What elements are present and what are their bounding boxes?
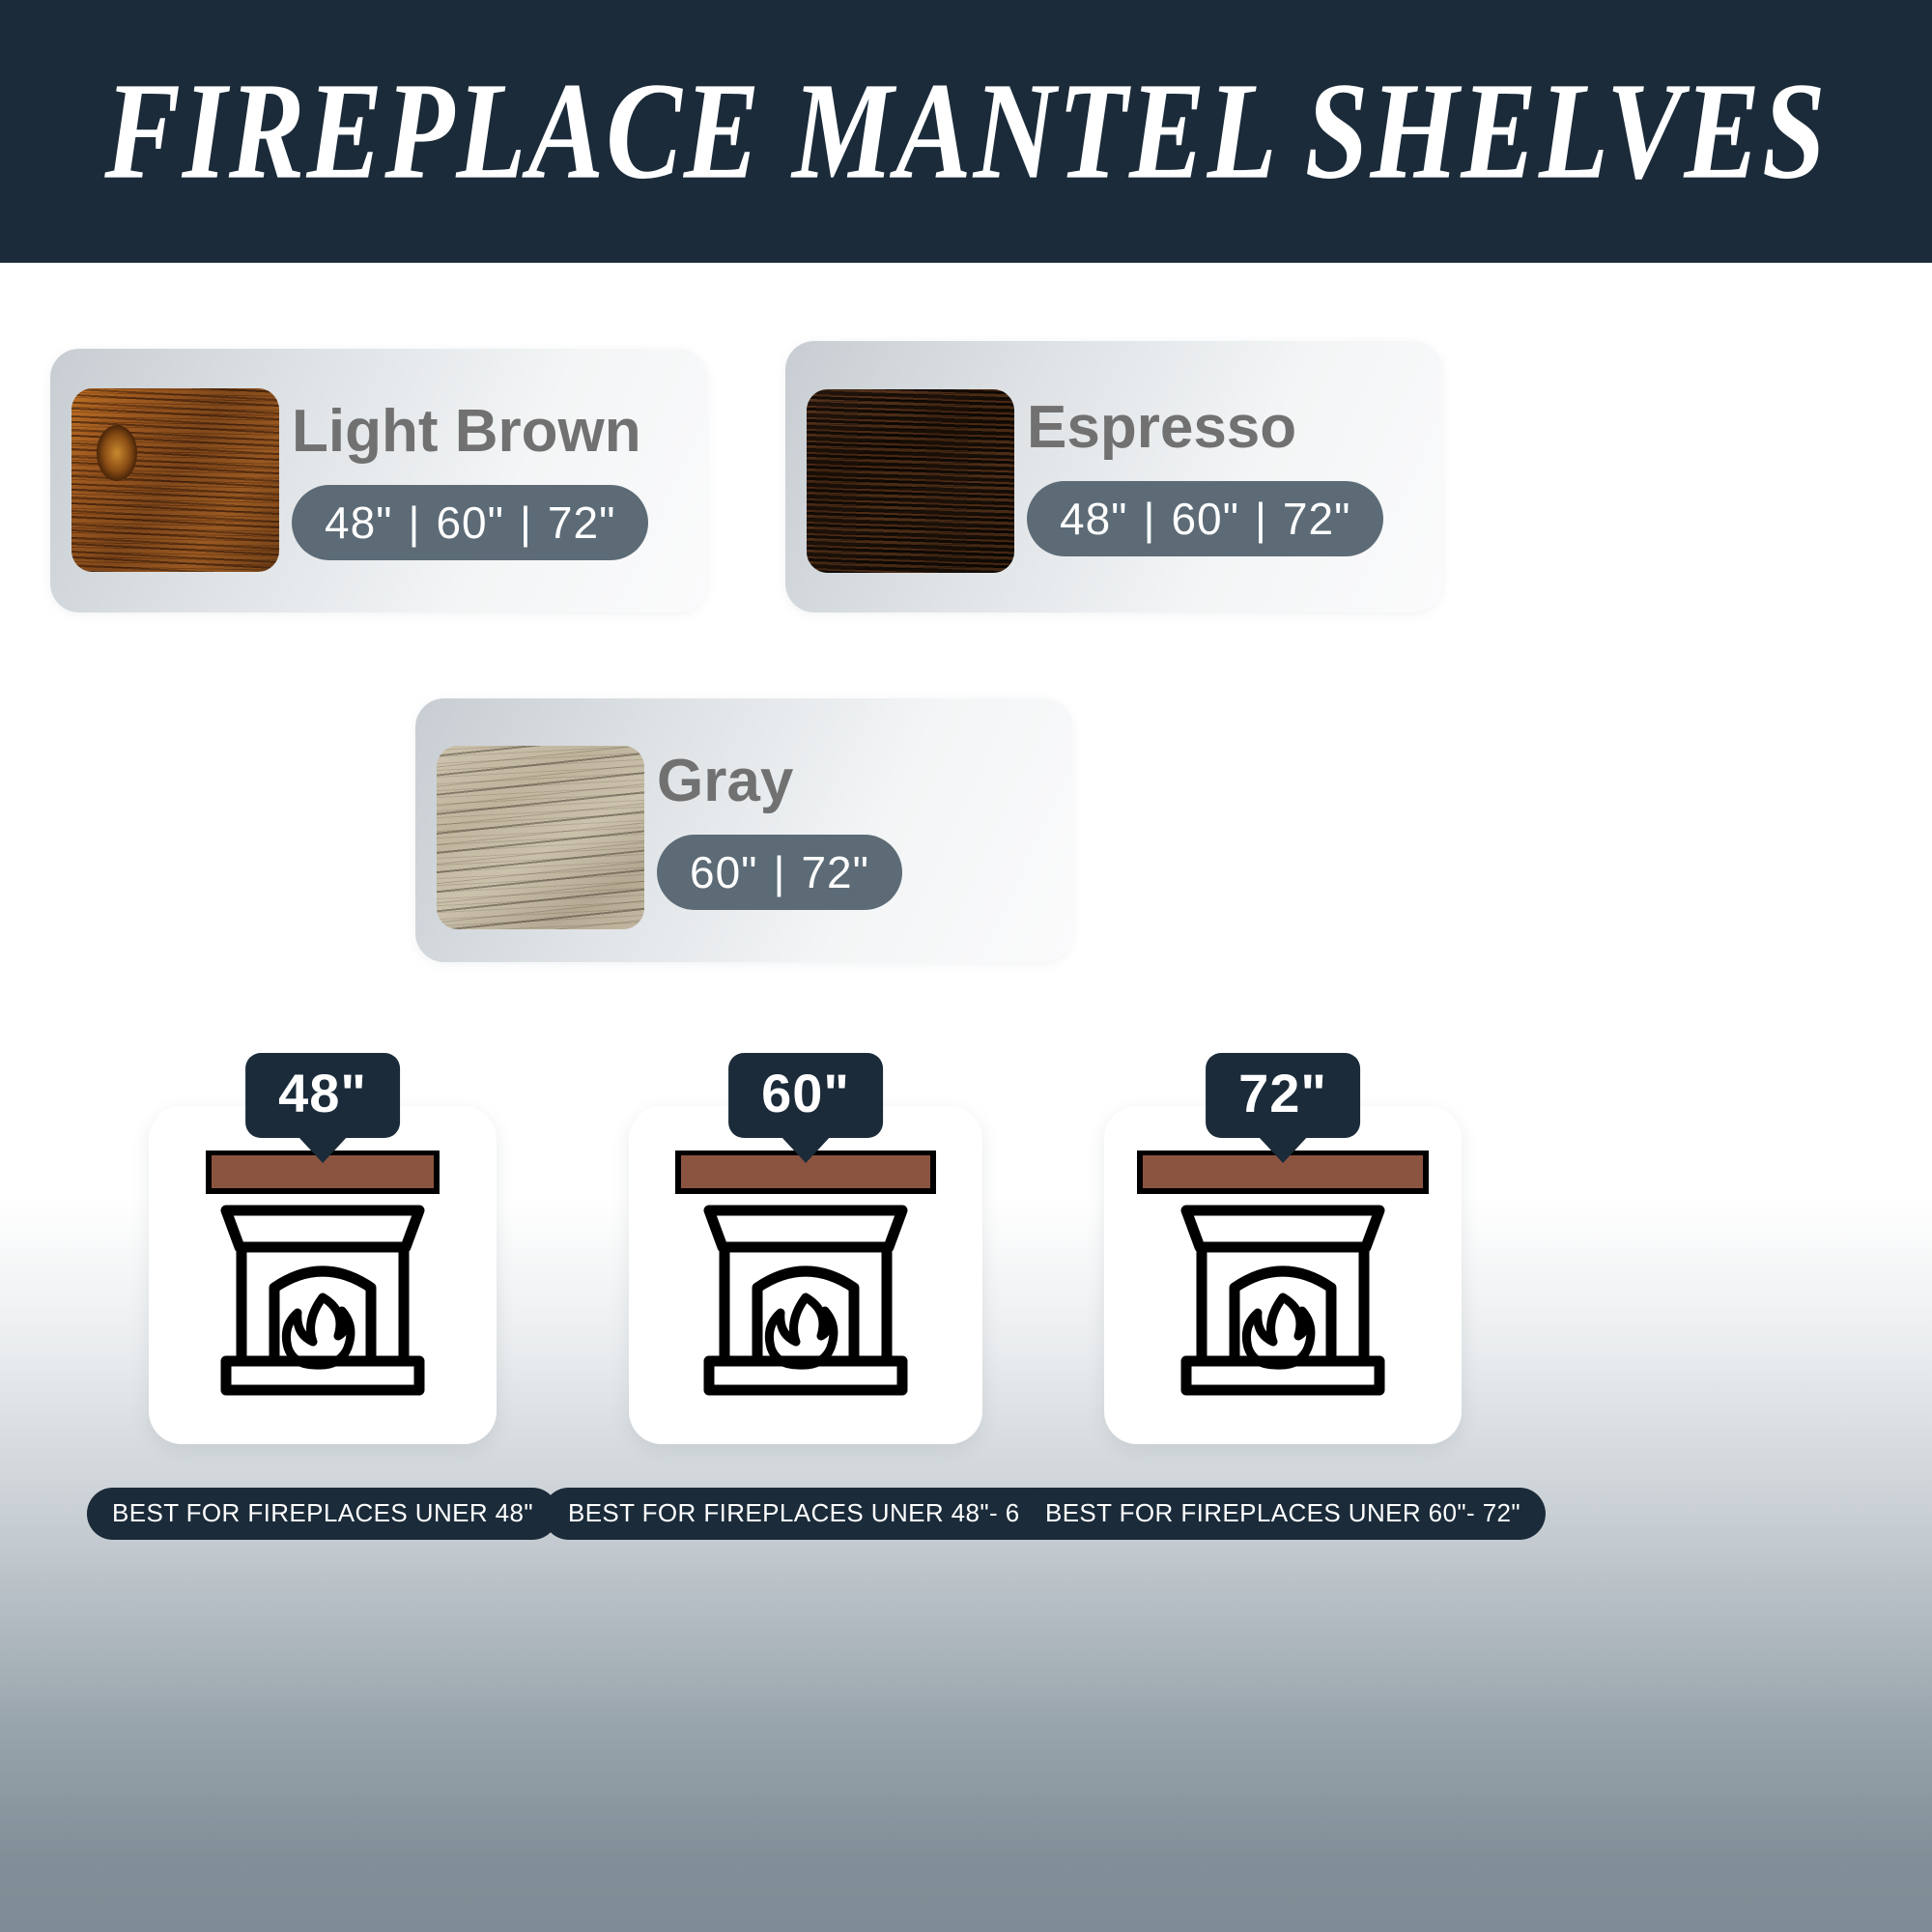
size-options-pill[interactable]: 48" | 60" | 72": [292, 485, 648, 560]
size-tag: 72": [1206, 1053, 1360, 1138]
size-tag: 48": [245, 1053, 400, 1138]
fireplace-icon: [1134, 1151, 1432, 1400]
fireplace-caption: BEST FOR FIREPLACES UNER 48": [87, 1488, 558, 1540]
finish-card-gray[interactable]: Gray 60" | 72": [415, 698, 1072, 962]
size-options-pill[interactable]: 60" | 72": [657, 835, 902, 910]
fireplace-icon: [665, 1151, 947, 1400]
page-header: FIREPLACE MANTEL SHELVES: [0, 0, 1932, 263]
size-option: 48": [1060, 493, 1128, 545]
finish-name: Gray: [657, 752, 1072, 811]
finish-card-light-brown[interactable]: Light Brown 48" | 60" | 72": [50, 349, 707, 612]
size-option: 72": [548, 497, 616, 549]
separator: |: [758, 846, 802, 898]
separator: |: [504, 497, 548, 549]
finish-name: Espresso: [1027, 398, 1442, 458]
infographic-page: FIREPLACE MANTEL SHELVES Light Brown 48"…: [0, 0, 1932, 1932]
finish-card-espresso[interactable]: Espresso 48" | 60" | 72": [785, 341, 1442, 612]
page-title: FIREPLACE MANTEL SHELVES: [104, 51, 1828, 212]
fireplace-icon: [187, 1151, 458, 1400]
finish-name: Light Brown: [292, 402, 707, 462]
separator: |: [393, 497, 437, 549]
wood-swatch-gray: [437, 746, 644, 929]
size-options-pill[interactable]: 48" | 60" | 72": [1027, 481, 1383, 556]
size-option: 72": [801, 846, 869, 898]
size-option: 60": [690, 846, 758, 898]
separator: |: [1128, 493, 1172, 545]
size-tag: 60": [728, 1053, 883, 1138]
wood-swatch-light-brown: [71, 388, 279, 572]
size-option: 60": [436, 497, 504, 549]
fireplace-caption: BEST FOR FIREPLACES UNER 48"- 60": [543, 1488, 1068, 1540]
size-option: 60": [1171, 493, 1239, 545]
separator: |: [1239, 493, 1283, 545]
size-option: 48": [325, 497, 393, 549]
fireplace-caption: BEST FOR FIREPLACES UNER 60"- 72": [1020, 1488, 1546, 1540]
size-option: 72": [1283, 493, 1351, 545]
wood-swatch-espresso: [807, 389, 1014, 573]
